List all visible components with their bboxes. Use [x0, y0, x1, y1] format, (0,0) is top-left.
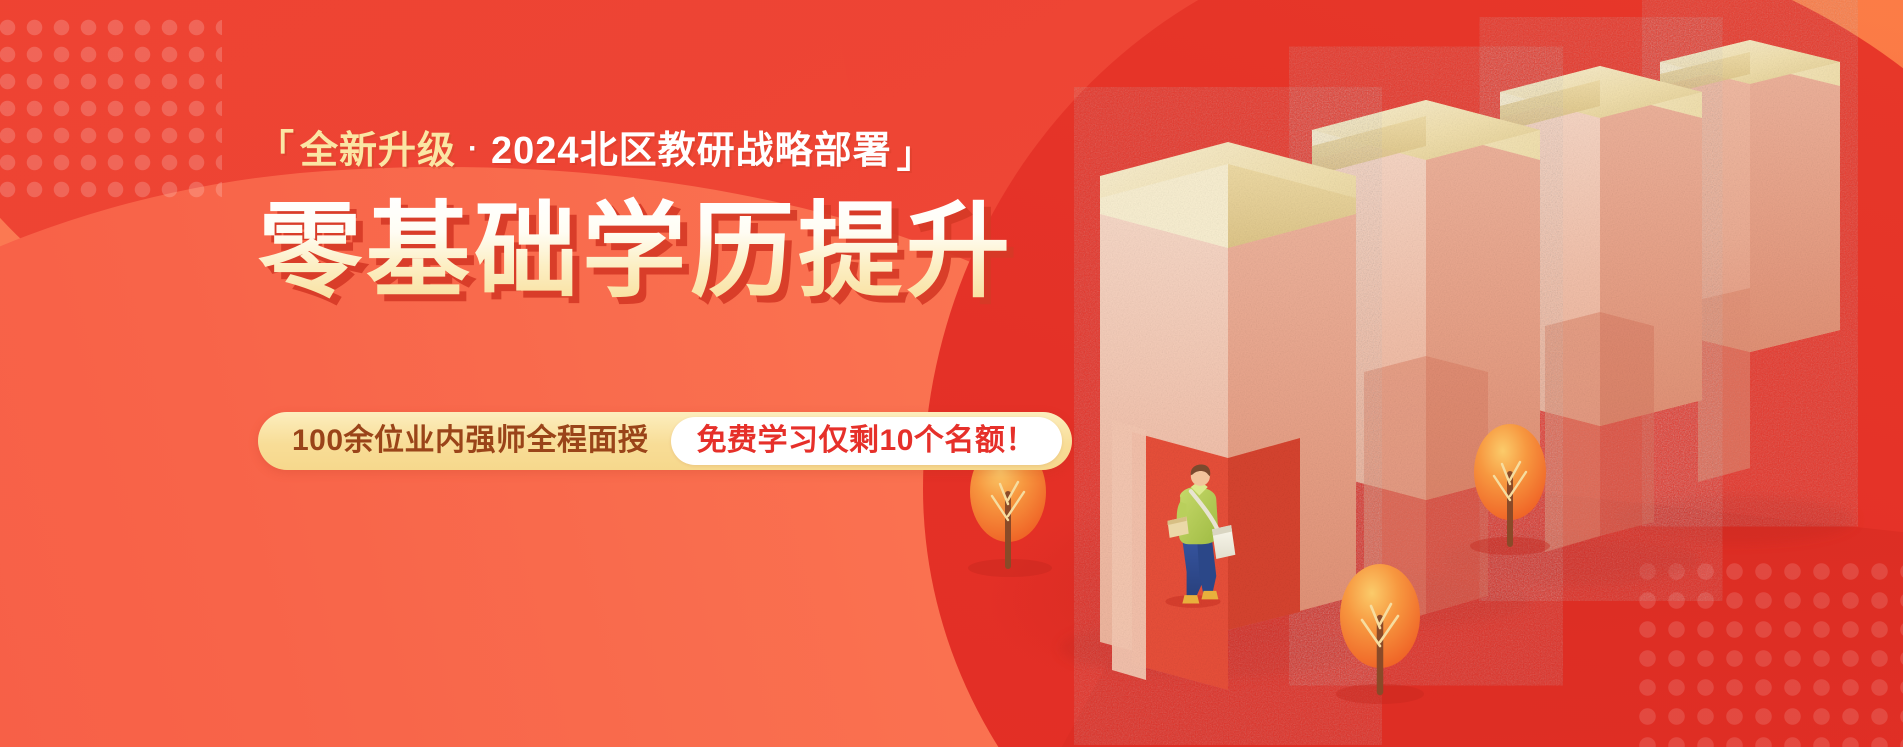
bracket-open-icon: 「 — [258, 130, 295, 166]
banner-content: 「全新升级·2024北区教研战略部署」 零基础学历提升学霸班 100余位业内强师… — [258, 132, 1018, 470]
subtitle-rest: 2024北区教研战略部署 — [491, 132, 892, 170]
tree-right-lower — [1336, 564, 1424, 704]
bracket-close-icon: 」 — [897, 137, 934, 173]
subtitle-highlight: 全新升级 — [300, 132, 456, 170]
promo-banner: 「全新升级·2024北区教研战略部署」 零基础学历提升学霸班 100余位业内强师… — [0, 0, 1903, 747]
subtitle-separator-icon: · — [468, 134, 479, 164]
page-title: 零基础学历提升学霸班 — [258, 196, 1018, 308]
banner-subtitle: 「全新升级·2024北区教研战略部署」 — [258, 132, 1018, 170]
feature-pill: 100余位业内强师全程面授 免费学习仅剩10个名额！ — [258, 412, 1072, 470]
seats-remaining-label: 免费学习仅剩10个名额！ — [697, 426, 1036, 456]
seats-remaining-badge: 免费学习仅剩10个名额！ — [671, 417, 1062, 465]
feature-pill-label: 100余位业内强师全程面授 — [292, 426, 649, 456]
illustration-isometric-books — [960, 0, 1903, 747]
dot-grid-top-left-icon — [0, 14, 222, 204]
